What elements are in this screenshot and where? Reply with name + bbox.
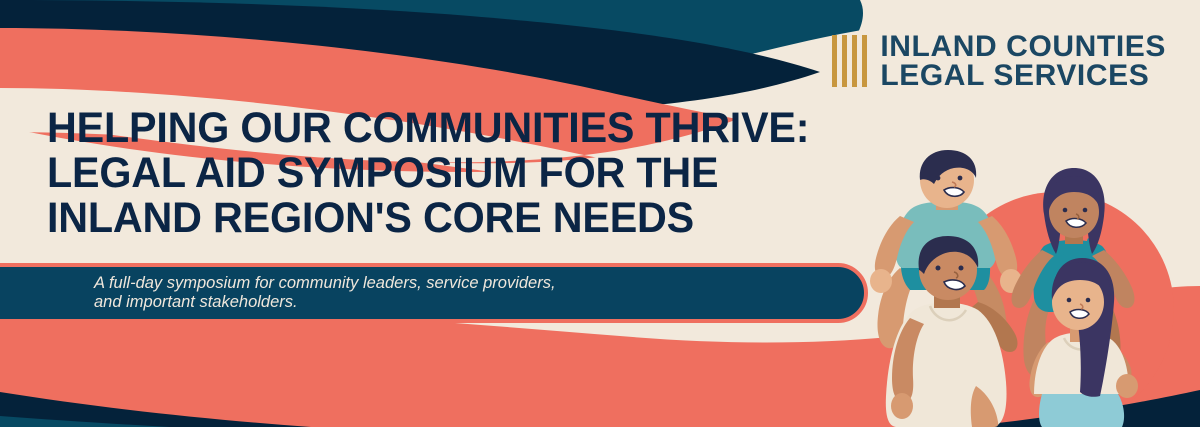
logo-bar	[842, 35, 847, 87]
subtitle-line-1: A full-day symposium for community leade…	[94, 274, 556, 293]
boy-eye-right	[958, 176, 963, 181]
event-banner: INLAND COUNTIES LEGAL SERVICES HELPING O…	[0, 0, 1200, 427]
subtitle-band: A full-day symposium for community leade…	[0, 263, 868, 323]
logo-bar	[832, 35, 837, 87]
boy-eye-left	[936, 176, 941, 181]
headline-line-2: LEGAL AID SYMPOSIUM FOR THE	[47, 151, 844, 196]
logo-bar	[852, 35, 857, 87]
logo-line-1: INLAND COUNTIES	[880, 32, 1166, 61]
woman-fist	[1116, 374, 1138, 398]
man-eye-left	[936, 266, 941, 271]
man-eye-right	[959, 266, 964, 271]
page-title: HELPING OUR COMMUNITIES THRIVE: LEGAL AI…	[47, 106, 877, 241]
logo-bars-icon	[832, 35, 867, 87]
logo-wordmark: INLAND COUNTIES LEGAL SERVICES	[880, 32, 1166, 91]
logo-bar	[862, 35, 867, 87]
woman-mouth	[1070, 310, 1089, 319]
logo-line-2: LEGAL SERVICES	[880, 61, 1166, 90]
logo[interactable]: INLAND COUNTIES LEGAL SERVICES	[832, 32, 1166, 91]
headline-line-1: HELPING OUR COMMUNITIES THRIVE:	[47, 106, 844, 151]
woman-eye-right	[1086, 298, 1091, 303]
man-hand	[891, 393, 913, 419]
subtitle-line-2: and important stakeholders.	[94, 293, 556, 312]
girl-eye-right	[1083, 208, 1088, 213]
woman-skirt	[1039, 394, 1124, 427]
girl-eye-left	[1063, 208, 1068, 213]
subtitle-text: A full-day symposium for community leade…	[94, 274, 556, 312]
family-group-illustration	[866, 150, 1200, 427]
headline-line-3: INLAND REGION'S CORE NEEDS	[47, 196, 844, 241]
woman-eye-left	[1067, 298, 1072, 303]
boy-fist-left	[870, 269, 892, 293]
